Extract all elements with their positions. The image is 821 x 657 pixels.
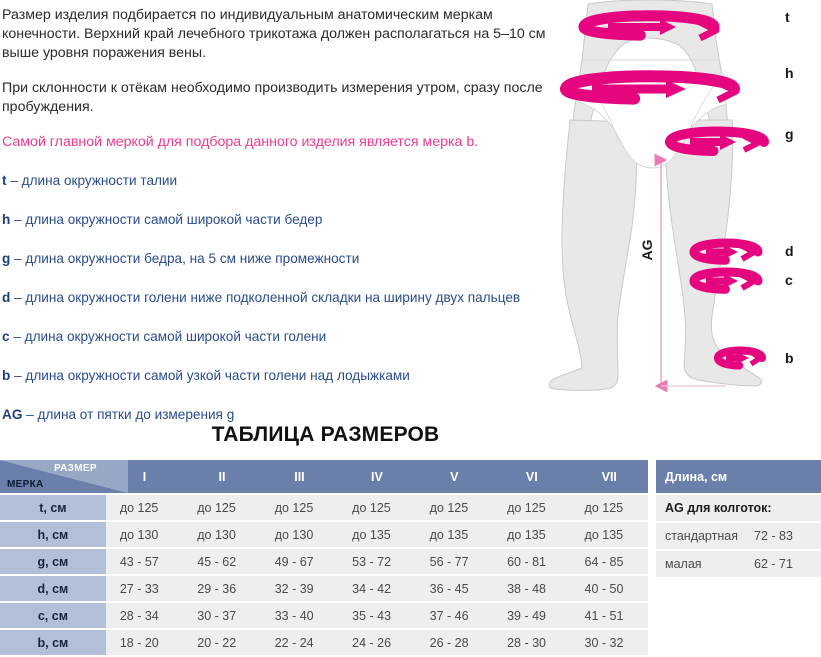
- length-table-subtitle-row: AG для колготок:: [656, 495, 821, 521]
- size-table-header-row: МЕРКА РАЗМЕР I II III IV V VI VII: [0, 460, 648, 493]
- cell-c-1: 28 - 34: [106, 603, 183, 628]
- row-label-h: h, см: [0, 522, 106, 547]
- legend-text-d: – длина окружности голени ниже подколенн…: [14, 290, 520, 305]
- illustration-label-h: h: [785, 65, 794, 81]
- cell-t-2: до 125: [183, 495, 260, 520]
- cell-g-3: 49 - 67: [261, 549, 338, 574]
- illustration-label-b: b: [785, 350, 794, 366]
- legend-key-g: g: [2, 251, 10, 266]
- cell-d-5: 36 - 45: [416, 576, 493, 601]
- cell-b-2: 20 - 22: [183, 630, 260, 655]
- legend-text-c: – длина окружности самой широкой части г…: [13, 329, 326, 344]
- cell-h-7: до 135: [571, 522, 648, 547]
- table-row: c, см 28 - 34 30 - 37 33 - 40 35 - 43 37…: [0, 603, 648, 628]
- cell-c-7: 41 - 51: [571, 603, 648, 628]
- size-column-header-3: III: [261, 460, 338, 493]
- length-table-header-row: Длина, см: [656, 460, 821, 493]
- row-label-c: c, см: [0, 603, 106, 628]
- cell-t-3: до 125: [261, 495, 338, 520]
- body-shape: [549, 0, 761, 390]
- length-row-value-small: 62 - 71: [754, 551, 821, 577]
- size-table-corner-cell: МЕРКА РАЗМЕР: [0, 460, 106, 493]
- table-row: g, см 43 - 57 45 - 62 49 - 67 53 - 72 56…: [0, 549, 648, 574]
- length-row-name-standard: стандартная: [656, 523, 754, 549]
- size-column-header-2: II: [183, 460, 260, 493]
- cell-b-5: 26 - 28: [416, 630, 493, 655]
- cell-h-5: до 135: [416, 522, 493, 547]
- length-row-name-small: малая: [656, 551, 754, 577]
- size-guide-page: Размер изделия подбирается по индивидуал…: [0, 0, 821, 649]
- illustration-label-t: t: [785, 9, 790, 25]
- legend-item-c: c – длина окружности самой широкой части…: [0, 328, 566, 345]
- size-table: МЕРКА РАЗМЕР I II III IV V VI VII t, см …: [0, 458, 648, 657]
- legend-key-ag: AG: [2, 407, 22, 422]
- cell-t-7: до 125: [571, 495, 648, 520]
- cell-c-6: 39 - 49: [493, 603, 570, 628]
- legend-item-b: b – длина окружности самой узкой части г…: [0, 367, 566, 384]
- length-table-subtitle: AG для колготок:: [656, 495, 821, 521]
- row-label-g: g, см: [0, 549, 106, 574]
- cell-d-7: 40 - 50: [571, 576, 648, 601]
- cell-h-1: до 130: [106, 522, 183, 547]
- cell-t-4: до 125: [338, 495, 415, 520]
- corner-label-razmer: РАЗМЕР: [54, 463, 97, 474]
- legend-text-h: – длина окружности самой широкой части б…: [14, 212, 322, 227]
- table-row: малая 62 - 71: [656, 551, 821, 577]
- cell-h-6: до 135: [493, 522, 570, 547]
- row-label-d: d, см: [0, 576, 106, 601]
- cell-g-2: 45 - 62: [183, 549, 260, 574]
- cell-d-2: 29 - 36: [183, 576, 260, 601]
- cell-h-4: до 135: [338, 522, 415, 547]
- row-label-b: b, см: [0, 630, 106, 655]
- cell-b-1: 18 - 20: [106, 630, 183, 655]
- cell-b-3: 22 - 24: [261, 630, 338, 655]
- legend-item-t: t – длина окружности талии: [0, 172, 566, 189]
- table-row: t, см до 125 до 125 до 125 до 125 до 125…: [0, 495, 648, 520]
- table-row: d, см 27 - 33 29 - 36 32 - 39 34 - 42 36…: [0, 576, 648, 601]
- legend-key-b: b: [2, 368, 10, 383]
- size-column-header-4: IV: [338, 460, 415, 493]
- legend-item-ag: AG – длина от пятки до измерения g: [0, 406, 566, 423]
- length-row-value-standard: 72 - 83: [754, 523, 821, 549]
- cell-t-6: до 125: [493, 495, 570, 520]
- legend-item-d: d – длина окружности голени ниже подколе…: [0, 289, 566, 306]
- cell-c-2: 30 - 37: [183, 603, 260, 628]
- cell-c-5: 37 - 46: [416, 603, 493, 628]
- legend-key-t: t: [2, 173, 7, 188]
- leg-measurement-illustration: AG: [548, 0, 821, 412]
- length-table-header: Длина, см: [656, 460, 821, 493]
- intro-paragraph-1: Размер изделия подбирается по индивидуал…: [0, 0, 566, 63]
- corner-label-merka: МЕРКА: [7, 479, 44, 490]
- illustration-label-d: d: [785, 243, 794, 259]
- ag-vertical-label: AG: [639, 239, 655, 260]
- cell-b-6: 28 - 30: [493, 630, 570, 655]
- cell-b-7: 30 - 32: [571, 630, 648, 655]
- legend-item-g: g – длина окружности бедра, на 5 см ниже…: [0, 250, 566, 267]
- cell-g-4: 53 - 72: [338, 549, 415, 574]
- table-row: b, см 18 - 20 20 - 22 22 - 24 24 - 26 26…: [0, 630, 648, 655]
- cell-h-2: до 130: [183, 522, 260, 547]
- size-column-header-7: VII: [571, 460, 648, 493]
- cell-g-6: 60 - 81: [493, 549, 570, 574]
- table-row: h, см до 130 до 130 до 130 до 135 до 135…: [0, 522, 648, 547]
- legend-text-t: – длина окружности талии: [10, 173, 177, 188]
- cell-d-3: 32 - 39: [261, 576, 338, 601]
- cell-t-5: до 125: [416, 495, 493, 520]
- legend-text-g: – длина окружности бедра, на 5 см ниже п…: [14, 251, 359, 266]
- table-row: стандартная 72 - 83: [656, 523, 821, 549]
- legend-key-d: d: [2, 290, 10, 305]
- legend-key-c: c: [2, 329, 10, 344]
- cell-g-1: 43 - 57: [106, 549, 183, 574]
- legend-text-ag: – длина от пятки до измерения g: [26, 407, 234, 422]
- illustration-label-g: g: [785, 126, 794, 142]
- size-column-header-6: VI: [493, 460, 570, 493]
- cell-g-5: 56 - 77: [416, 549, 493, 574]
- intro-paragraph-2: При склонности к отёкам необходимо произ…: [0, 79, 566, 117]
- cell-g-7: 64 - 85: [571, 549, 648, 574]
- legend-item-h: h – длина окружности самой широкой части…: [0, 211, 566, 228]
- size-table-body: t, см до 125 до 125 до 125 до 125 до 125…: [0, 495, 648, 655]
- cell-d-6: 38 - 48: [493, 576, 570, 601]
- cell-c-3: 33 - 40: [261, 603, 338, 628]
- size-column-header-5: V: [416, 460, 493, 493]
- length-table: Длина, см AG для колготок: стандартная 7…: [656, 458, 821, 579]
- legend-key-h: h: [2, 212, 10, 227]
- highlight-note: Самой главной меркой для подбора данного…: [0, 133, 566, 152]
- cell-c-4: 35 - 43: [338, 603, 415, 628]
- measurement-legend: t – длина окружности талии h – длина окр…: [0, 172, 566, 423]
- cell-h-3: до 130: [261, 522, 338, 547]
- legend-text-b: – длина окружности самой узкой части гол…: [14, 368, 410, 383]
- illustration-label-c: c: [785, 272, 793, 288]
- size-table-title: ТАБЛИЦА РАЗМЕРОВ: [0, 423, 651, 447]
- cell-b-4: 24 - 26: [338, 630, 415, 655]
- cell-t-1: до 125: [106, 495, 183, 520]
- info-panel: Размер изделия подбирается по индивидуал…: [0, 0, 566, 410]
- row-label-t: t, см: [0, 495, 106, 520]
- cell-d-1: 27 - 33: [106, 576, 183, 601]
- cell-d-4: 34 - 42: [338, 576, 415, 601]
